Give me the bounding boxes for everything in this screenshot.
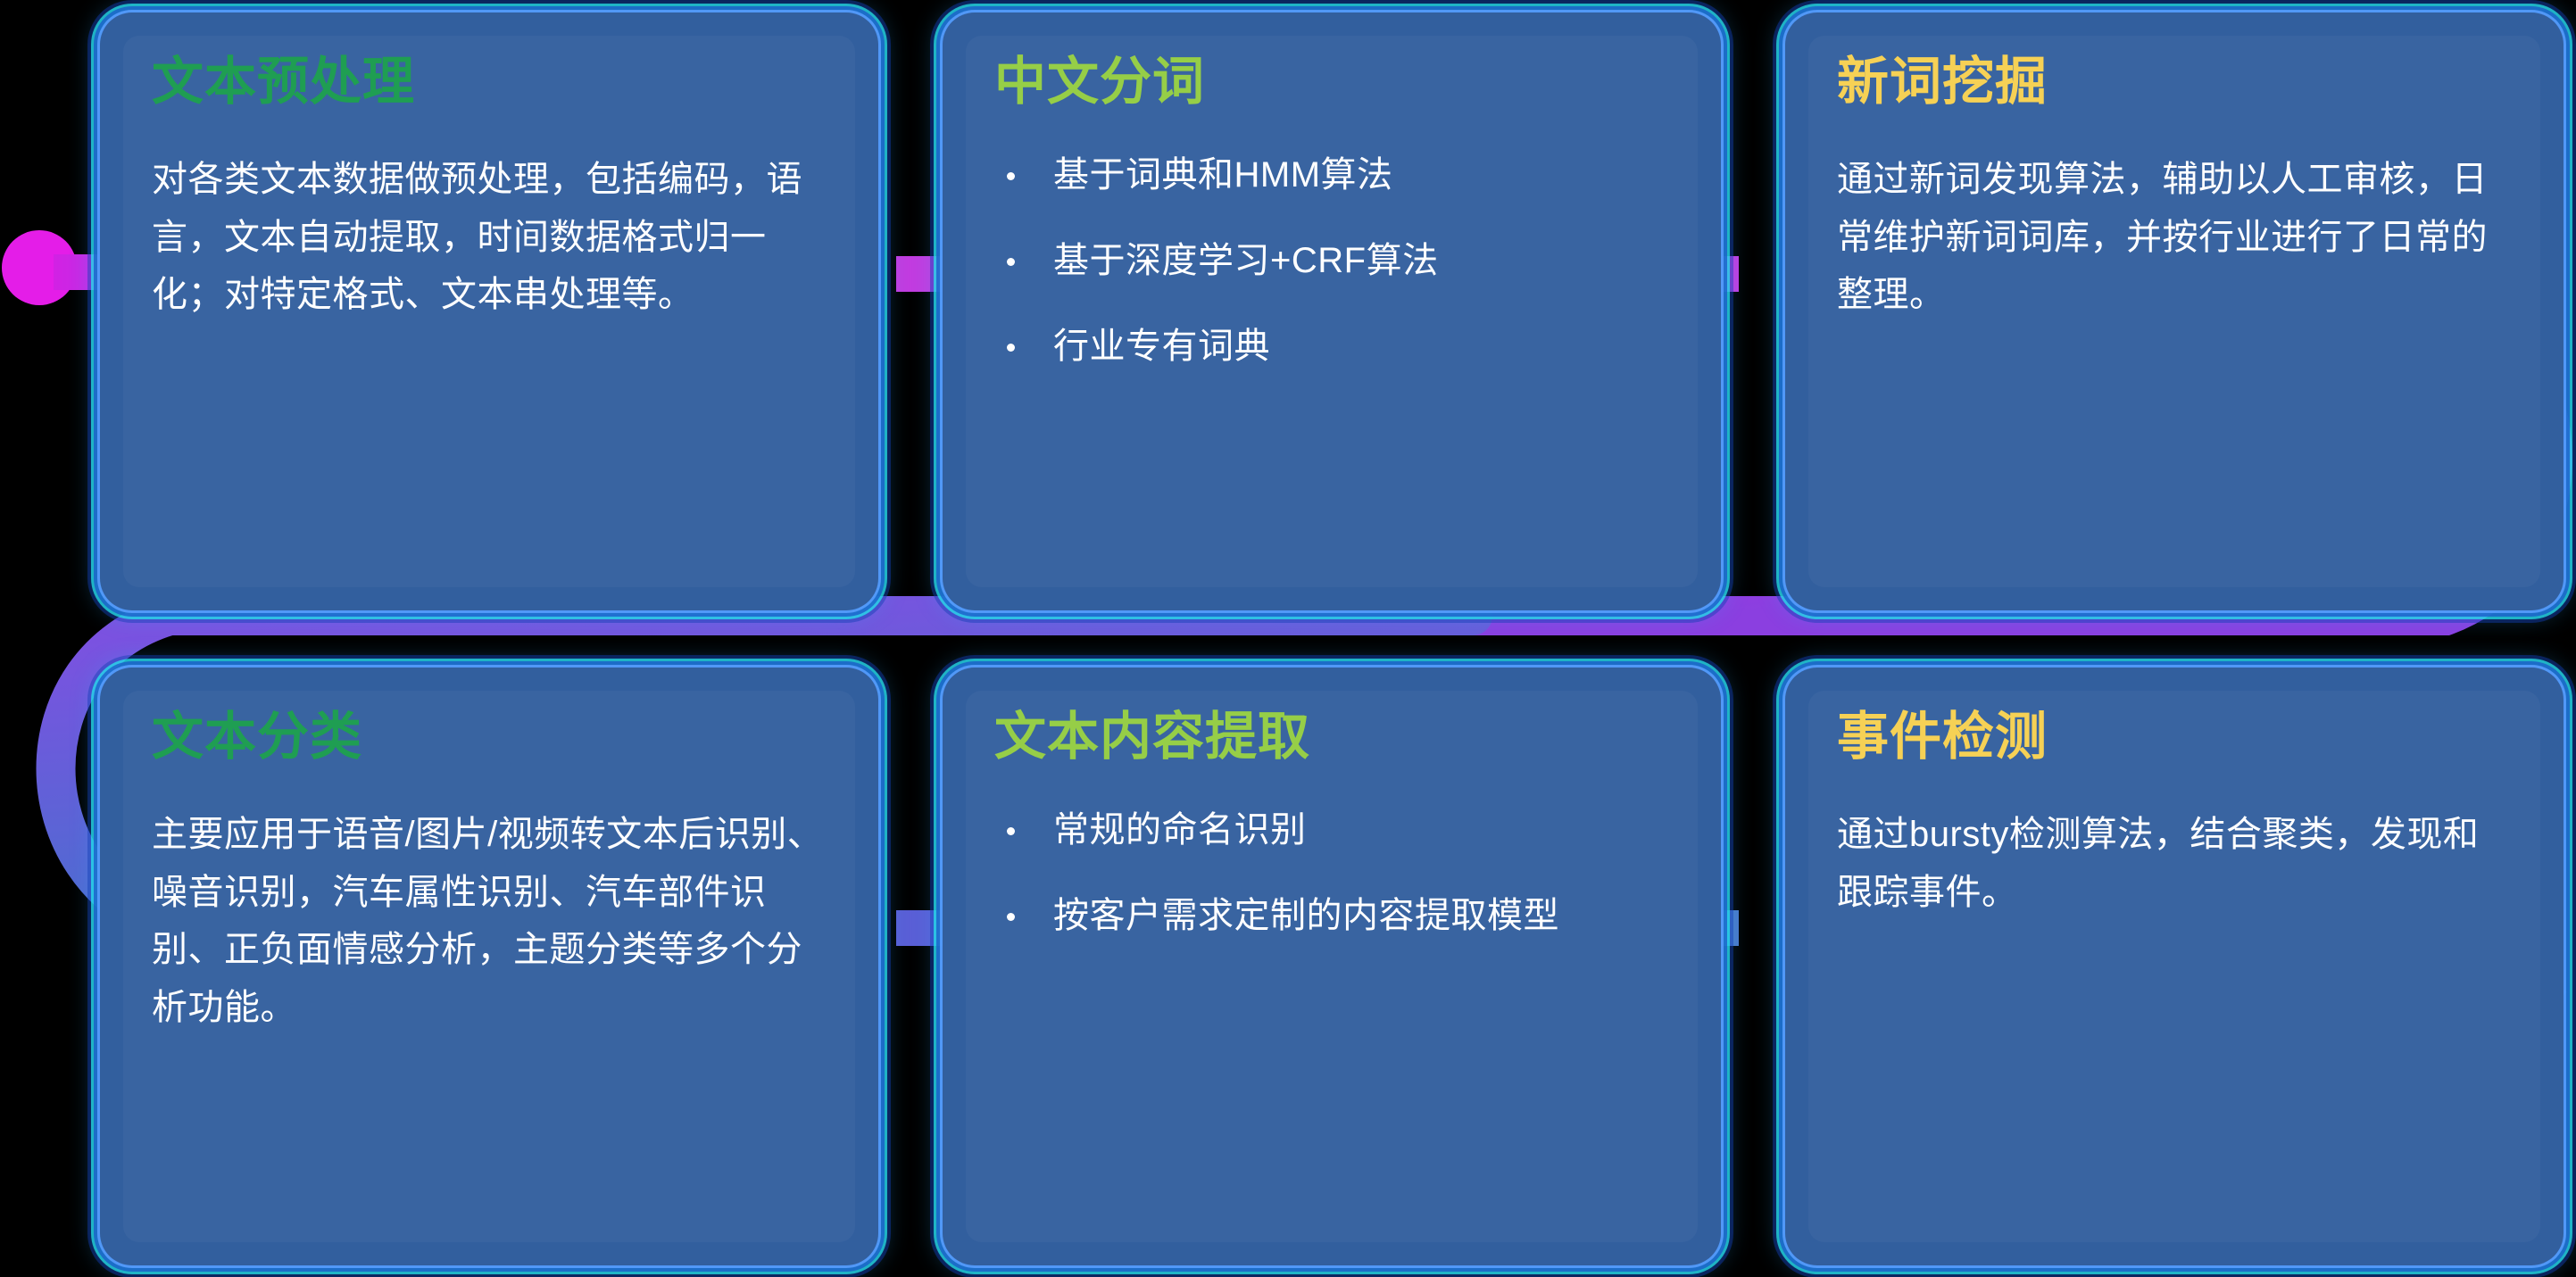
card-title: 中文分词: [994, 55, 1669, 110]
card-body-text: 通过bursty检测算法，结合聚类，发现和跟踪事件。: [1837, 806, 2512, 922]
card-chinese-word-segmentation[interactable]: 中文分词 基于词典和HMM算法 基于深度学习+CRF算法 行业专有词典: [943, 12, 1721, 610]
card-bullet-list: 基于词典和HMM算法 基于深度学习+CRF算法 行业专有词典: [994, 151, 1669, 370]
list-item: 行业专有词典: [994, 322, 1669, 370]
list-item: 基于词典和HMM算法: [994, 151, 1669, 199]
card-title: 事件检测: [1837, 710, 2512, 765]
card-text-content-extraction[interactable]: 文本内容提取 常规的命名识别 按客户需求定制的内容提取模型: [943, 668, 1721, 1265]
card-body-text: 主要应用于语音/图片/视频转文本后识别、噪音识别，汽车属性识别、汽车部件识别、正…: [152, 806, 827, 1037]
card-title: 文本预处理: [152, 55, 827, 110]
card-body-text: 对各类文本数据做预处理，包括编码，语言，文本自动提取，时间数据格式归一化；对特定…: [152, 151, 827, 324]
card-row-top: 文本预处理 对各类文本数据做预处理，包括编码，语言，文本自动提取，时间数据格式归…: [100, 12, 2564, 610]
card-row-bottom: 文本分类 主要应用于语音/图片/视频转文本后识别、噪音识别，汽车属性识别、汽车部…: [100, 668, 2564, 1265]
card-title: 文本内容提取: [994, 710, 1669, 765]
card-new-word-discovery[interactable]: 新词挖掘 通过新词发现算法，辅助以人工审核，日常维护新词词库，并按行业进行了日常…: [1785, 12, 2564, 610]
list-item: 基于深度学习+CRF算法: [994, 236, 1669, 285]
card-text-classification[interactable]: 文本分类 主要应用于语音/图片/视频转文本后识别、噪音识别，汽车属性识别、汽车部…: [100, 668, 878, 1265]
card-title: 新词挖掘: [1837, 55, 2512, 110]
list-item: 按客户需求定制的内容提取模型: [994, 891, 1669, 940]
list-item: 常规的命名识别: [994, 806, 1669, 854]
card-body-text: 通过新词发现算法，辅助以人工审核，日常维护新词词库，并按行业进行了日常的整理。: [1837, 151, 2512, 324]
card-title: 文本分类: [152, 710, 827, 765]
card-event-detection[interactable]: 事件检测 通过bursty检测算法，结合聚类，发现和跟踪事件。: [1785, 668, 2564, 1265]
infographic-diagram: 文本预处理 对各类文本数据做预处理，包括编码，语言，文本自动提取，时间数据格式归…: [0, 0, 2576, 1277]
card-text-preprocessing[interactable]: 文本预处理 对各类文本数据做预处理，包括编码，语言，文本自动提取，时间数据格式归…: [100, 12, 878, 610]
card-bullet-list: 常规的命名识别 按客户需求定制的内容提取模型: [994, 806, 1669, 940]
